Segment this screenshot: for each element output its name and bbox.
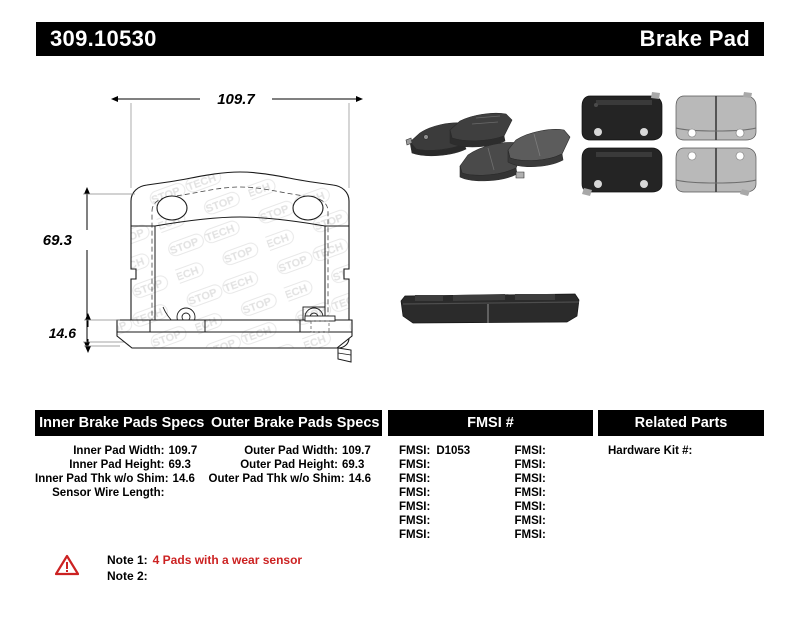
table-row: Hardware Kit #: — [608, 444, 764, 458]
fmsi-label: FMSI: — [515, 459, 546, 471]
fmsi-label: FMSI: — [399, 487, 430, 499]
table-row: FMSI: — [515, 528, 594, 542]
fmsi-value: D1053 — [430, 445, 470, 457]
spec-value: 109.7 — [169, 444, 209, 458]
fmsi-value — [546, 473, 552, 485]
fmsi-value — [430, 459, 436, 471]
table-row: FMSI: — [399, 500, 491, 514]
column-header-outer-specs: Outer Brake Pads Specs — [209, 410, 383, 436]
fmsi-value — [430, 473, 436, 485]
product-type-title: Brake Pad — [640, 28, 750, 50]
table-row: Outer Pad Thk w/o Shim: 14.6 — [209, 472, 383, 486]
dimension-width-label: 109.7 — [217, 91, 255, 108]
spec-value: 109.7 — [342, 444, 382, 458]
notes-section: Note 1:4 Pads with a wear sensor Note 2: — [55, 552, 302, 584]
fmsi-label: FMSI: — [399, 501, 430, 513]
fmsi-label: FMSI: — [399, 459, 430, 471]
fmsi-value — [430, 487, 436, 499]
spec-label — [209, 486, 343, 500]
spec-value: 69.3 — [342, 458, 382, 472]
inner-specs-body: Inner Pad Width: 109.7 Inner Pad Height:… — [35, 436, 209, 500]
fmsi-label: FMSI: — [515, 515, 546, 527]
table-row — [209, 486, 383, 500]
fmsi-group: FMSI # FMSI:D1053 FMSI: FMSI: FMSI: FMSI… — [388, 410, 593, 542]
hardware-kit-label: Hardware Kit #: — [608, 445, 692, 457]
spec-value — [342, 486, 382, 500]
spec-label: Inner Pad Height: — [35, 458, 169, 472]
table-row: Inner Pad Thk w/o Shim: 14.6 — [35, 472, 209, 486]
spec-table: Inner Brake Pads Specs Outer Brake Pads … — [35, 410, 764, 540]
fmsi-value — [430, 529, 436, 541]
spec-value: 14.6 — [349, 472, 382, 486]
fmsi-value — [546, 445, 552, 457]
table-row: FMSI: — [399, 514, 491, 528]
spec-label: Outer Pad Width: — [209, 444, 343, 458]
header-bar: 309.10530 Brake Pad — [36, 22, 764, 56]
table-row: Sensor Wire Length: — [35, 486, 209, 500]
table-row: FMSI: — [515, 514, 594, 528]
fmsi-value — [546, 459, 552, 471]
spec-label: Inner Pad Thk w/o Shim: — [35, 472, 173, 486]
table-row: Outer Pad Width: 109.7 — [209, 444, 383, 458]
spec-value: 14.6 — [173, 472, 209, 486]
table-row: FMSI: — [399, 528, 491, 542]
spec-label: Inner Pad Width: — [35, 444, 169, 458]
spec-label: Outer Pad Height: — [209, 458, 343, 472]
table-row: FMSI: — [399, 486, 491, 500]
table-row: FMSI: — [515, 500, 594, 514]
note-2-value — [148, 569, 153, 583]
table-row: FMSI: — [399, 458, 491, 472]
pad-side-view — [117, 316, 352, 348]
fmsi-value — [546, 529, 552, 541]
note-line: Note 2: — [107, 568, 302, 584]
four-pads-angled-photo — [398, 92, 580, 192]
fmsi-label: FMSI: — [399, 445, 430, 457]
table-row: FMSI: — [515, 458, 594, 472]
column-header-inner-specs: Inner Brake Pads Specs — [35, 410, 209, 436]
fmsi-column-left: FMSI:D1053 FMSI: FMSI: FMSI: FMSI: FMSI: — [388, 444, 491, 542]
fmsi-value — [430, 515, 436, 527]
fmsi-value — [546, 487, 552, 499]
fmsi-label: FMSI: — [515, 487, 546, 499]
table-row: FMSI:D1053 — [399, 444, 491, 458]
table-row: Inner Pad Width: 109.7 — [35, 444, 209, 458]
fmsi-label: FMSI: — [515, 501, 546, 513]
note-line: Note 1:4 Pads with a wear sensor — [107, 552, 302, 568]
spec-label: Sensor Wire Length: — [35, 486, 169, 500]
related-parts-group: Related Parts Hardware Kit #: — [598, 410, 764, 458]
spec-label: Outer Pad Thk w/o Shim: — [209, 472, 349, 486]
dimension-thickness-label: 14.6 — [49, 325, 76, 341]
note-2-label: Note 2: — [107, 569, 148, 583]
fmsi-label: FMSI: — [399, 473, 430, 485]
column-header-related-parts: Related Parts — [598, 410, 764, 436]
fmsi-value — [546, 501, 552, 513]
pad-specs-group: Inner Brake Pads Specs Outer Brake Pads … — [35, 410, 382, 500]
fmsi-label: FMSI: — [399, 515, 430, 527]
part-number: 309.10530 — [50, 28, 157, 50]
spec-value: 69.3 — [169, 458, 209, 472]
fmsi-label: FMSI: — [399, 529, 430, 541]
fmsi-column-right: FMSI: FMSI: FMSI: FMSI: FMSI: FMSI: — [491, 444, 594, 542]
dimension-height-label: 69.3 — [43, 232, 73, 249]
outer-specs-body: Outer Pad Width: 109.7 Outer Pad Height:… — [209, 436, 383, 500]
pad-edge-view-photo — [395, 282, 585, 334]
spec-value — [169, 486, 209, 500]
four-pads-grid-photo — [576, 88, 766, 198]
fmsi-value — [430, 501, 436, 513]
fmsi-value — [546, 515, 552, 527]
table-row: Outer Pad Height: 69.3 — [209, 458, 383, 472]
fmsi-label: FMSI: — [515, 473, 546, 485]
column-header-fmsi: FMSI # — [388, 410, 593, 436]
table-row: FMSI: — [515, 472, 594, 486]
warning-triangle-icon — [55, 554, 79, 576]
fmsi-label: FMSI: — [515, 529, 546, 541]
table-row: FMSI: — [515, 486, 594, 500]
note-1-label: Note 1: — [107, 553, 148, 567]
note-1-value: 4 Pads with a wear sensor — [148, 553, 302, 567]
table-row: FMSI: — [515, 444, 594, 458]
table-row: FMSI: — [399, 472, 491, 486]
fmsi-label: FMSI: — [515, 445, 546, 457]
table-row: Inner Pad Height: 69.3 — [35, 458, 209, 472]
